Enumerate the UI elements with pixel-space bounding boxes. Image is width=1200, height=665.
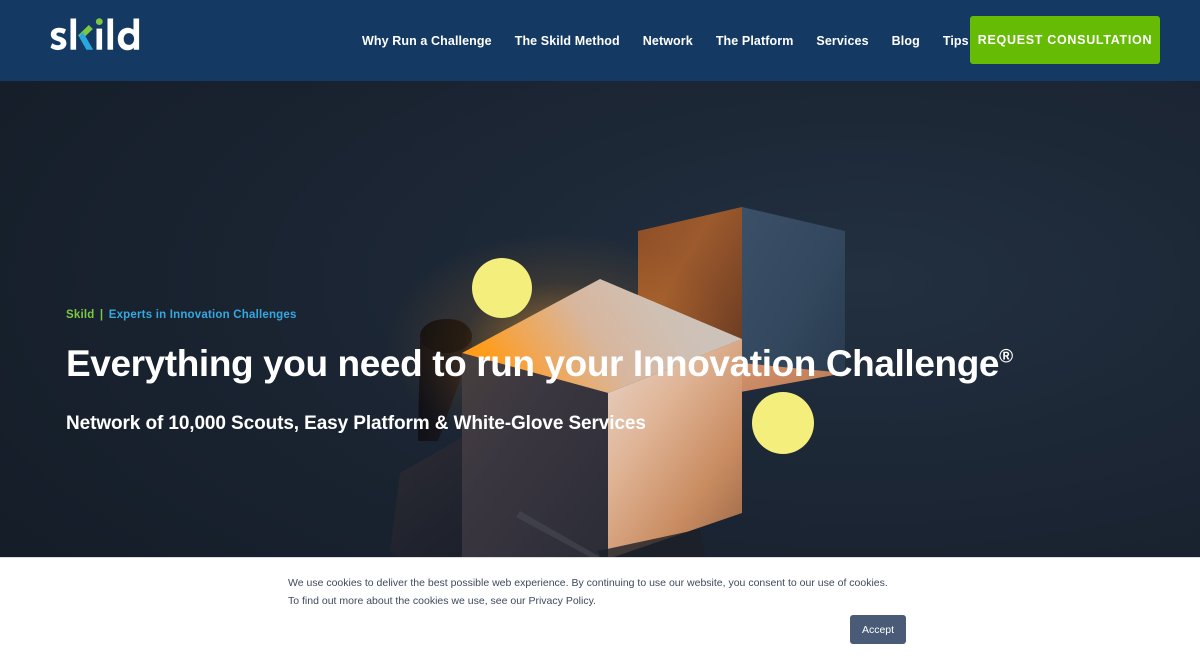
hero-eyebrow: Skild | Experts in Innovation Challenges	[66, 309, 966, 321]
cookie-accept-button[interactable]: Accept	[850, 615, 906, 644]
hero-text-block: Skild | Experts in Innovation Challenges…	[66, 309, 966, 435]
hero-headline-text: Everything you need to run your Innovati…	[66, 343, 999, 384]
request-consultation-button[interactable]: REQUEST CONSULTATION	[970, 16, 1160, 64]
nav-blog[interactable]: Blog	[892, 34, 920, 48]
nav-the-skild-method[interactable]: The Skild Method	[515, 34, 620, 48]
cookie-consent-banner: We use cookies to deliver the best possi…	[0, 557, 1200, 665]
nav-services[interactable]: Services	[816, 34, 868, 48]
skild-logo[interactable]	[47, 16, 147, 64]
hero-section: Skild | Experts in Innovation Challenges…	[0, 81, 1200, 557]
nav-why-run-a-challenge[interactable]: Why Run a Challenge	[362, 34, 492, 48]
page-root: Why Run a Challenge The Skild Method Net…	[0, 0, 1200, 665]
registered-trademark-icon: ®	[999, 347, 1013, 368]
site-header: Why Run a Challenge The Skild Method Net…	[0, 0, 1200, 81]
hero-eyebrow-brand: Skild	[66, 309, 94, 321]
hero-eyebrow-separator: |	[100, 309, 103, 321]
hero-subheadline: Network of 10,000 Scouts, Easy Platform …	[66, 413, 966, 435]
nav-network[interactable]: Network	[643, 34, 693, 48]
nav-the-platform[interactable]: The Platform	[716, 34, 794, 48]
skild-logo-icon	[47, 16, 147, 64]
hero-headline: Everything you need to run your Innovati…	[66, 343, 966, 384]
cookie-consent-message: We use cookies to deliver the best possi…	[288, 574, 888, 611]
hero-eyebrow-tagline: Experts in Innovation Challenges	[109, 309, 297, 321]
